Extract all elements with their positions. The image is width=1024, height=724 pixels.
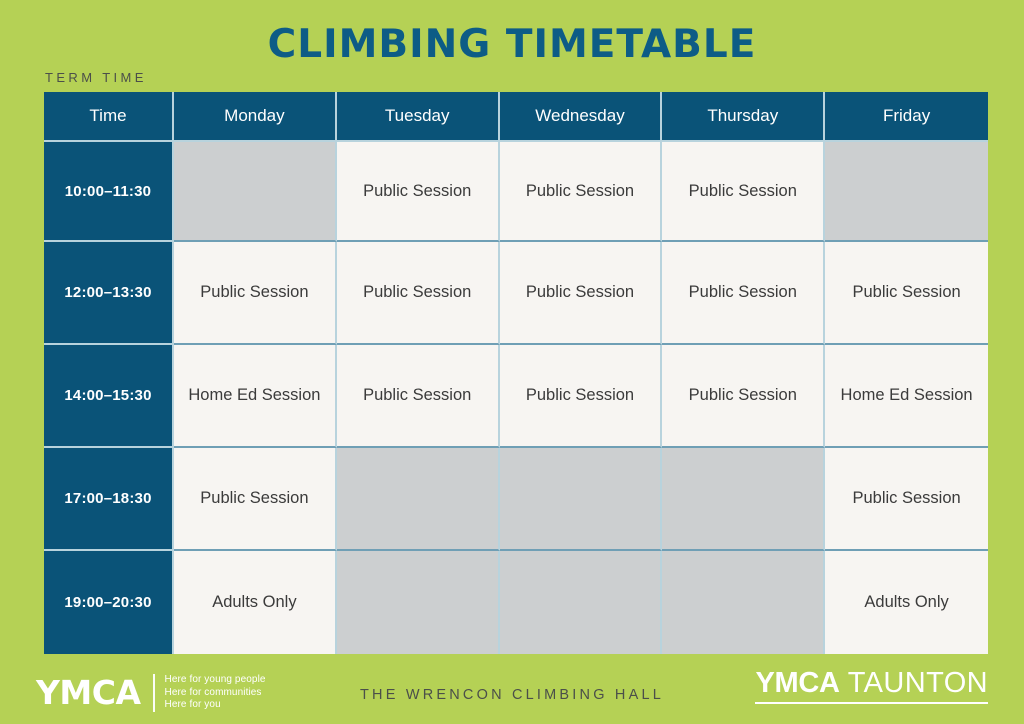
brand-name-light: TAUNTON bbox=[848, 667, 988, 699]
brand-underline bbox=[755, 702, 988, 704]
column-header-thursday: Thursday bbox=[662, 92, 825, 142]
climbing-timetable: Time Monday Tuesday Wednesday Thursday F… bbox=[44, 92, 988, 654]
session-cell-thursday[interactable]: Public Session bbox=[662, 242, 825, 345]
column-header-time: Time bbox=[44, 92, 174, 142]
time-slot-label: 14:00–15:30 bbox=[44, 345, 174, 448]
session-cell-friday[interactable]: Adults Only bbox=[825, 551, 988, 654]
session-cell-thursday[interactable]: Public Session bbox=[662, 142, 825, 242]
session-cell-wednesday[interactable]: Public Session bbox=[500, 242, 663, 345]
table-row: 14:00–15:30 Home Ed Session Public Sessi… bbox=[44, 345, 988, 448]
column-header-tuesday: Tuesday bbox=[337, 92, 500, 142]
session-cell-friday[interactable]: Public Session bbox=[825, 448, 988, 551]
session-cell-monday[interactable]: Public Session bbox=[174, 242, 337, 345]
table-row: 19:00–20:30 Adults Only Adults Only bbox=[44, 551, 988, 654]
session-cell-thursday[interactable] bbox=[662, 448, 825, 551]
session-cell-tuesday[interactable]: Public Session bbox=[337, 242, 500, 345]
session-cell-thursday[interactable]: Public Session bbox=[662, 345, 825, 448]
table-row: 17:00–18:30 Public Session Public Sessio… bbox=[44, 448, 988, 551]
session-cell-wednesday[interactable]: Public Session bbox=[500, 345, 663, 448]
tagline-line-1: Here for young people bbox=[165, 674, 266, 685]
session-cell-wednesday[interactable] bbox=[500, 448, 663, 551]
session-cell-tuesday[interactable]: Public Session bbox=[337, 345, 500, 448]
table-row: 10:00–11:30 Public Session Public Sessio… bbox=[44, 142, 988, 242]
session-cell-friday[interactable] bbox=[825, 142, 988, 242]
time-slot-label: 17:00–18:30 bbox=[44, 448, 174, 551]
time-slot-label: 12:00–13:30 bbox=[44, 242, 174, 345]
time-slot-label: 19:00–20:30 bbox=[44, 551, 174, 654]
column-header-monday: Monday bbox=[174, 92, 337, 142]
session-cell-monday[interactable] bbox=[174, 142, 337, 242]
ymca-taunton-wordmark: YMCA TAUNTON bbox=[755, 667, 988, 699]
session-cell-tuesday[interactable] bbox=[337, 551, 500, 654]
session-cell-monday[interactable]: Home Ed Session bbox=[174, 345, 337, 448]
term-time-label: TERM TIME bbox=[45, 70, 147, 85]
column-header-friday: Friday bbox=[825, 92, 988, 142]
time-slot-label: 10:00–11:30 bbox=[44, 142, 174, 242]
footer: YMCA Here for young people Here for comm… bbox=[0, 662, 1024, 724]
session-cell-tuesday[interactable] bbox=[337, 448, 500, 551]
session-cell-monday[interactable]: Public Session bbox=[174, 448, 337, 551]
page-title: CLIMBING TIMETABLE bbox=[0, 22, 1024, 68]
brand-name-bold: YMCA bbox=[755, 667, 839, 699]
session-cell-thursday[interactable] bbox=[662, 551, 825, 654]
session-cell-wednesday[interactable]: Public Session bbox=[500, 142, 663, 242]
session-cell-monday[interactable]: Adults Only bbox=[174, 551, 337, 654]
session-cell-friday[interactable]: Home Ed Session bbox=[825, 345, 988, 448]
ymca-taunton-logo: YMCA TAUNTON bbox=[755, 667, 988, 704]
table-row: 12:00–13:30 Public Session Public Sessio… bbox=[44, 242, 988, 345]
table-header-row: Time Monday Tuesday Wednesday Thursday F… bbox=[44, 92, 988, 142]
column-header-wednesday: Wednesday bbox=[500, 92, 663, 142]
session-cell-friday[interactable]: Public Session bbox=[825, 242, 988, 345]
session-cell-tuesday[interactable]: Public Session bbox=[337, 142, 500, 242]
session-cell-wednesday[interactable] bbox=[500, 551, 663, 654]
